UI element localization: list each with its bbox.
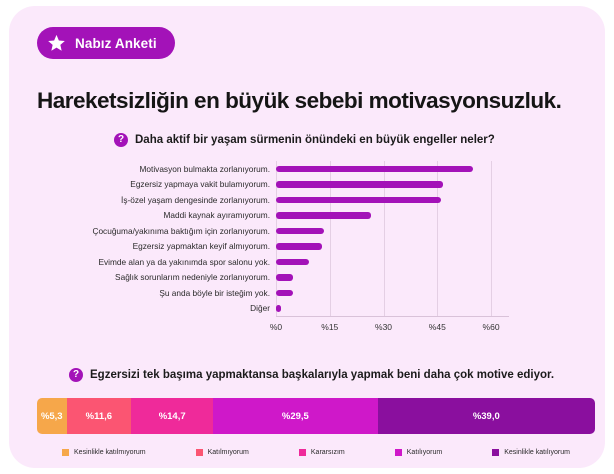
bar [276, 259, 309, 266]
stacked-bar-legend: Kesinlikle katılmıyorumKatılmıyorumKarar… [37, 449, 595, 456]
x-axis-tick-label: %0 [270, 322, 282, 332]
bar-category-label: Egzersiz yapmaktan keyif almıyorum. [133, 241, 270, 251]
bar-row: Şu anda böyle bir isteğim yok. [276, 285, 509, 301]
bar-row: Maddi kaynak ayıramıyorum. [276, 208, 509, 224]
bar [276, 274, 293, 281]
bar-row: Çocuğuma/yakınıma baktığım için zorlanıy… [276, 223, 509, 239]
x-axis-line [276, 316, 509, 317]
question-mark-icon: ? [114, 133, 128, 147]
legend-swatch [196, 449, 203, 456]
bar-row: Diğer [276, 301, 509, 317]
bar [276, 181, 443, 188]
legend-item[interactable]: Katılıyorum [395, 449, 442, 456]
star-icon [46, 33, 67, 54]
barchart-plot-area: Motivasyon bulmakta zorlanıyorum.Egzersi… [276, 161, 509, 316]
bar [276, 166, 473, 173]
poll-card: Nabız Anketi Hareketsizliğin en büyük se… [9, 6, 605, 468]
question-mark-icon: ? [69, 368, 83, 382]
bar-row: Egzersiz yapmaktan keyif almıyorum. [276, 239, 509, 255]
page-title: Hareketsizliğin en büyük sebebi motivasy… [37, 88, 561, 114]
stacked-bar-segment: %14,7 [131, 398, 213, 434]
legend-label: Katılıyorum [407, 449, 442, 456]
question-2-text: Egzersizi tek başıma yapmaktansa başkala… [90, 369, 554, 381]
stacked-bar-motivasyon: %5,3%11,6%14,7%29,5%39,0 [37, 398, 595, 434]
x-axis-tick-label: %60 [483, 322, 500, 332]
legend-swatch [395, 449, 402, 456]
bar-row: Motivasyon bulmakta zorlanıyorum. [276, 161, 509, 177]
question-2-row: ? Egzersizi tek başıma yapmaktansa başka… [69, 368, 554, 382]
stacked-bar-segment: %5,3 [37, 398, 67, 434]
bar-row: Evimde alan ya da yakınımda spor salonu … [276, 254, 509, 270]
bar-category-label: Egzersiz yapmaya vakit bulamıyorum. [130, 179, 270, 189]
stacked-bar-segment: %39,0 [378, 398, 595, 434]
bar [276, 243, 322, 250]
legend-item[interactable]: Kararsızım [299, 449, 345, 456]
bar [276, 197, 441, 204]
barchart-engeller: Motivasyon bulmakta zorlanıyorum.Egzersi… [69, 161, 509, 336]
x-axis-tick-label: %15 [321, 322, 338, 332]
x-axis-tick-label: %45 [429, 322, 446, 332]
bar-category-label: Diğer [250, 303, 270, 313]
x-axis-ticks: %0%15%30%45%60 [276, 318, 509, 334]
bar [276, 290, 293, 297]
legend-item[interactable]: Kesinlikle katılmıyorum [62, 449, 146, 456]
bar [276, 212, 371, 219]
legend-swatch [492, 449, 499, 456]
legend-label: Kesinlikle katılmıyorum [74, 449, 146, 456]
legend-item[interactable]: Katılmıyorum [196, 449, 249, 456]
bar-category-label: İş-özel yaşam dengesinde zorlanıyorum. [121, 195, 270, 205]
stacked-bar-segment: %29,5 [213, 398, 377, 434]
bar-rows: Motivasyon bulmakta zorlanıyorum.Egzersi… [276, 161, 509, 316]
bar-category-label: Şu anda böyle bir isteğim yok. [159, 288, 270, 298]
x-axis-tick-label: %30 [375, 322, 392, 332]
bar-row: İş-özel yaşam dengesinde zorlanıyorum. [276, 192, 509, 208]
question-1-row: ? Daha aktif bir yaşam sürmenin önündeki… [114, 133, 495, 147]
question-1-text: Daha aktif bir yaşam sürmenin önündeki e… [135, 134, 495, 146]
bar-category-label: Çocuğuma/yakınıma baktığım için zorlanıy… [92, 226, 270, 236]
legend-label: Kesinlikle katılıyorum [504, 449, 570, 456]
legend-label: Katılmıyorum [208, 449, 249, 456]
stacked-bar-segment: %11,6 [67, 398, 132, 434]
bar [276, 305, 281, 312]
legend-swatch [299, 449, 306, 456]
legend-swatch [62, 449, 69, 456]
legend-label: Kararsızım [311, 449, 345, 456]
legend-item[interactable]: Kesinlikle katılıyorum [492, 449, 570, 456]
bar-category-label: Motivasyon bulmakta zorlanıyorum. [140, 164, 271, 174]
bar-category-label: Evimde alan ya da yakınımda spor salonu … [98, 257, 270, 267]
bar-row: Sağlık sorunlarım nedeniyle zorlanıyorum… [276, 270, 509, 286]
bar-category-label: Sağlık sorunlarım nedeniyle zorlanıyorum… [115, 272, 270, 282]
brand-badge: Nabız Anketi [37, 27, 175, 59]
bar-category-label: Maddi kaynak ayıramıyorum. [163, 210, 270, 220]
bar [276, 228, 324, 235]
bar-row: Egzersiz yapmaya vakit bulamıyorum. [276, 177, 509, 193]
brand-badge-label: Nabız Anketi [75, 36, 157, 51]
